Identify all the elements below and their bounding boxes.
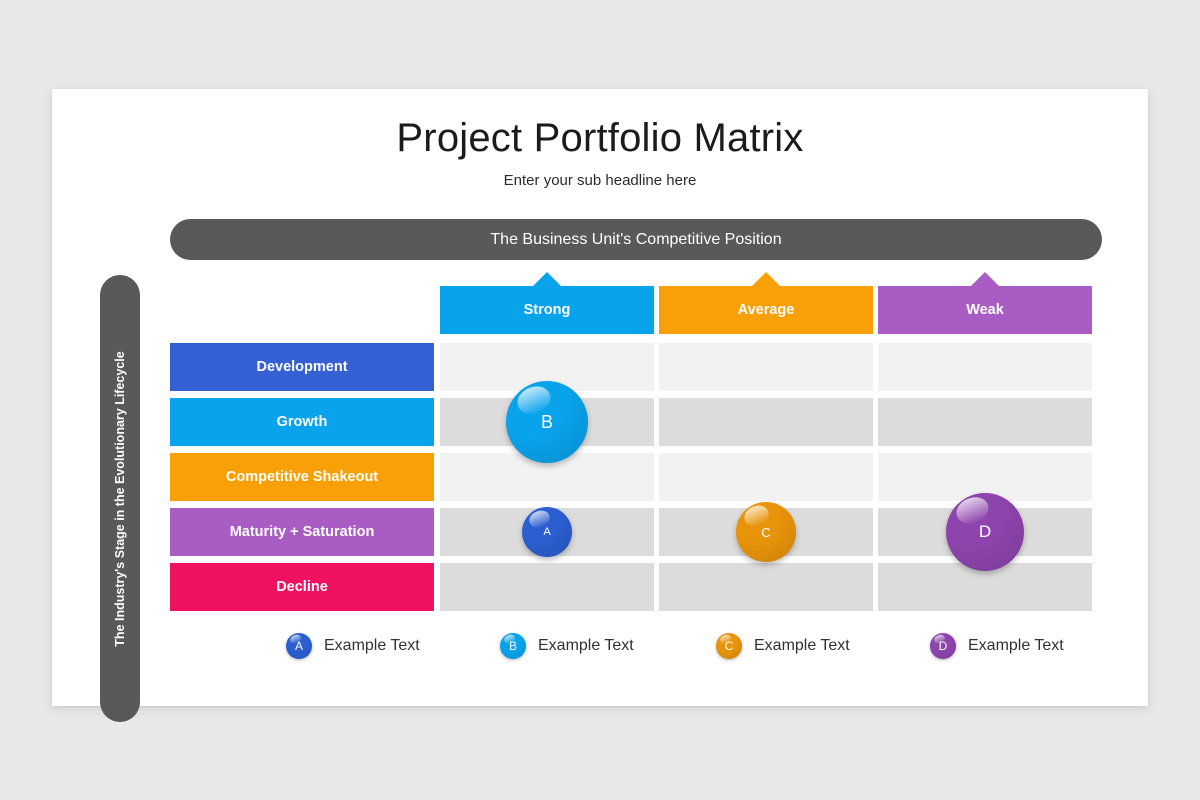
column-header-label: Average <box>738 302 795 318</box>
vertical-axis-label: The Industry's Stage in the Evolutionary… <box>113 351 127 646</box>
legend-marker-letter: B <box>509 639 517 653</box>
column-header-notch-icon <box>971 272 999 286</box>
legend-marker-a: A <box>286 633 312 659</box>
matrix-cell[interactable] <box>659 398 873 446</box>
page-title: Project Portfolio Matrix <box>52 116 1148 161</box>
legend-marker-letter: A <box>295 639 303 653</box>
column-header-strong[interactable]: Strong <box>440 286 654 334</box>
column-header-notch-icon <box>533 272 561 286</box>
legend-item-a[interactable]: AExample Text <box>286 631 420 661</box>
page-subtitle: Enter your sub headline here <box>52 172 1148 189</box>
legend-marker-letter: D <box>939 639 948 653</box>
vertical-axis-banner: The Industry's Stage in the Evolutionary… <box>100 275 140 722</box>
legend-item-b[interactable]: BExample Text <box>500 631 634 661</box>
row-label-competitive-shakeout[interactable]: Competitive Shakeout <box>170 453 434 501</box>
legend-item-c[interactable]: CExample Text <box>716 631 850 661</box>
legend-item-label: Example Text <box>754 637 850 655</box>
legend-item-d[interactable]: DExample Text <box>930 631 1064 661</box>
matrix-cell[interactable] <box>878 398 1092 446</box>
horizontal-axis-label: The Business Unit's Competitive Position <box>490 231 781 249</box>
row-label-decline[interactable]: Decline <box>170 563 434 611</box>
legend-item-label: Example Text <box>538 637 634 655</box>
matrix-cell[interactable] <box>659 343 873 391</box>
row-label-text: Competitive Shakeout <box>226 469 378 485</box>
bubble-a[interactable]: A <box>522 507 572 557</box>
column-header-label: Strong <box>524 302 571 318</box>
row-label-growth[interactable]: Growth <box>170 398 434 446</box>
matrix-cell[interactable] <box>440 563 654 611</box>
row-label-text: Development <box>256 359 347 375</box>
row-label-text: Decline <box>276 579 328 595</box>
legend-marker-letter: C <box>725 639 734 653</box>
horizontal-axis-banner: The Business Unit's Competitive Position <box>170 219 1102 260</box>
matrix-cell[interactable] <box>878 343 1092 391</box>
legend-item-label: Example Text <box>968 637 1064 655</box>
bubble-label: B <box>541 412 553 433</box>
legend-marker-b: B <box>500 633 526 659</box>
row-label-text: Growth <box>277 414 328 430</box>
matrix-cell[interactable] <box>659 453 873 501</box>
column-header-weak[interactable]: Weak <box>878 286 1092 334</box>
bubble-label: D <box>979 522 991 542</box>
column-header-notch-icon <box>752 272 780 286</box>
legend-item-label: Example Text <box>324 637 420 655</box>
bubble-b[interactable]: B <box>506 381 588 463</box>
column-header-label: Weak <box>966 302 1004 318</box>
row-label-text: Maturity + Saturation <box>230 524 375 540</box>
slide-canvas: Project Portfolio Matrix Enter your sub … <box>52 89 1148 706</box>
matrix-cell[interactable] <box>659 563 873 611</box>
legend-marker-c: C <box>716 633 742 659</box>
bubble-d[interactable]: D <box>946 493 1024 571</box>
legend: AExample TextBExample TextCExample TextD… <box>170 631 1102 671</box>
row-label-maturity-saturation[interactable]: Maturity + Saturation <box>170 508 434 556</box>
bubble-c[interactable]: C <box>736 502 796 562</box>
column-header-average[interactable]: Average <box>659 286 873 334</box>
bubble-label: C <box>761 525 770 540</box>
bubble-label: A <box>543 526 550 538</box>
row-label-development[interactable]: Development <box>170 343 434 391</box>
legend-marker-d: D <box>930 633 956 659</box>
